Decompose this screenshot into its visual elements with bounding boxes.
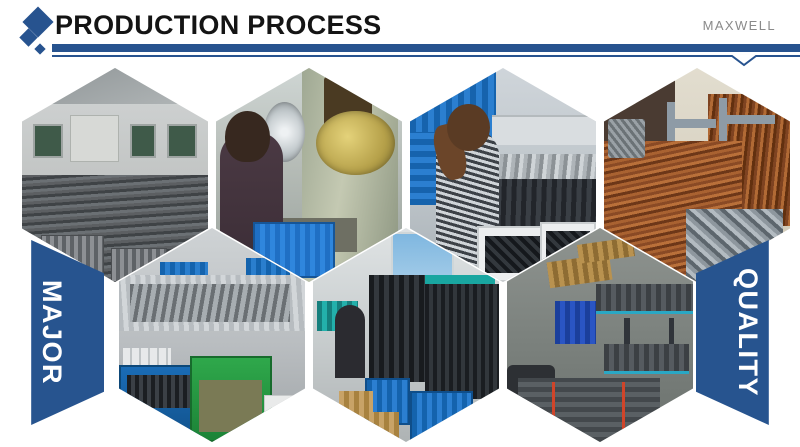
page-title: PRODUCTION PROCESS [55,10,381,40]
header-rule-thick [52,44,800,52]
gallery [0,58,800,447]
diamond-small-icon [34,43,45,54]
brand-logo-text: MAXWELL [703,18,776,33]
page-header: PRODUCTION PROCESS MAXWELL [0,0,800,62]
